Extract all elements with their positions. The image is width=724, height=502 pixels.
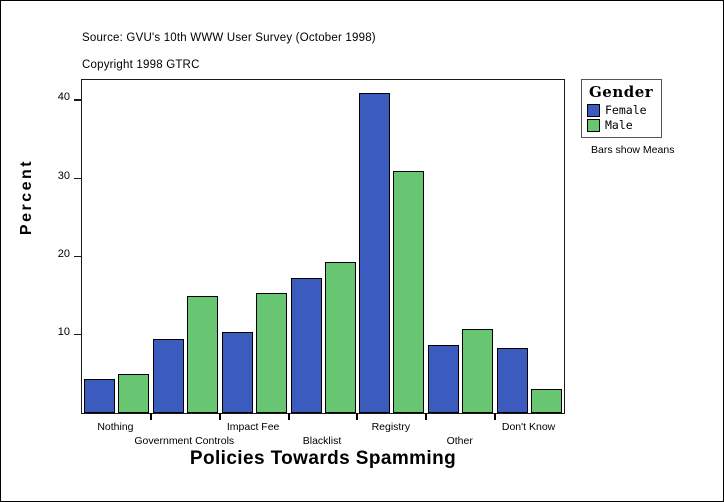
legend: Gender FemaleMale (581, 79, 662, 138)
x-axis-tick-mark (150, 413, 152, 420)
bar (531, 389, 562, 413)
legend-item-label: Female (605, 103, 647, 117)
copyright-note: Copyright 1998 GTRC (82, 59, 200, 71)
x-axis-category-label: Other (447, 435, 473, 447)
plot-inner: 10203040 (82, 80, 564, 413)
bar (118, 374, 149, 413)
y-axis-tick-mark (74, 178, 82, 180)
bar (359, 93, 390, 413)
chart-canvas: Source: GVU's 10th WWW User Survey (Octo… (0, 0, 724, 502)
y-axis-title: Percent (18, 159, 36, 235)
y-axis-tick: 20 (48, 256, 82, 257)
x-axis-tick-mark (288, 413, 290, 420)
bar (497, 348, 528, 413)
y-axis-tick-mark (74, 99, 82, 101)
bar (187, 296, 218, 413)
y-axis-tick-mark (74, 334, 82, 336)
source-note: Source: GVU's 10th WWW User Survey (Octo… (82, 32, 376, 44)
plot-area: 10203040 (81, 79, 565, 414)
y-axis-tick-label: 40 (58, 91, 70, 103)
legend-item-male[interactable]: Male (587, 118, 653, 132)
x-axis-category-label: Registry (372, 421, 411, 433)
y-axis-tick: 40 (48, 99, 82, 100)
x-axis-category-label: Don't Know (502, 421, 555, 433)
y-axis-tick: 30 (48, 178, 82, 179)
legend-entries: FemaleMale (587, 103, 653, 132)
bar (393, 171, 424, 413)
x-axis-tick-mark (219, 413, 221, 420)
legend-swatch-icon (587, 104, 600, 117)
bars-show-means-note: Bars show Means (591, 144, 674, 156)
legend-item-female[interactable]: Female (587, 103, 653, 117)
y-axis-tick-label: 20 (58, 248, 70, 260)
bar (428, 345, 459, 413)
bar (153, 339, 184, 413)
bar (325, 262, 356, 413)
bar (462, 329, 493, 413)
x-axis-tick-mark (356, 413, 358, 420)
x-axis-category-label: Blacklist (303, 435, 342, 447)
y-axis-tick-label: 30 (58, 170, 70, 182)
x-axis-category-label: Government Controls (134, 435, 234, 447)
bar (291, 278, 322, 413)
legend-title: Gender (589, 83, 653, 101)
x-axis-tick-mark (494, 413, 496, 420)
x-axis-category-label: Nothing (97, 421, 133, 433)
y-axis-tick: 10 (48, 334, 82, 335)
y-axis-tick-mark (74, 256, 82, 258)
x-axis-title: Policies Towards Spamming (190, 448, 456, 470)
x-axis-category-label: Impact Fee (227, 421, 280, 433)
bar (256, 293, 287, 413)
legend-item-label: Male (605, 118, 633, 132)
x-axis-tick-mark (425, 413, 427, 420)
y-axis-tick-label: 10 (58, 326, 70, 338)
legend-swatch-icon (587, 119, 600, 132)
bar (222, 332, 253, 413)
bar (84, 379, 115, 413)
